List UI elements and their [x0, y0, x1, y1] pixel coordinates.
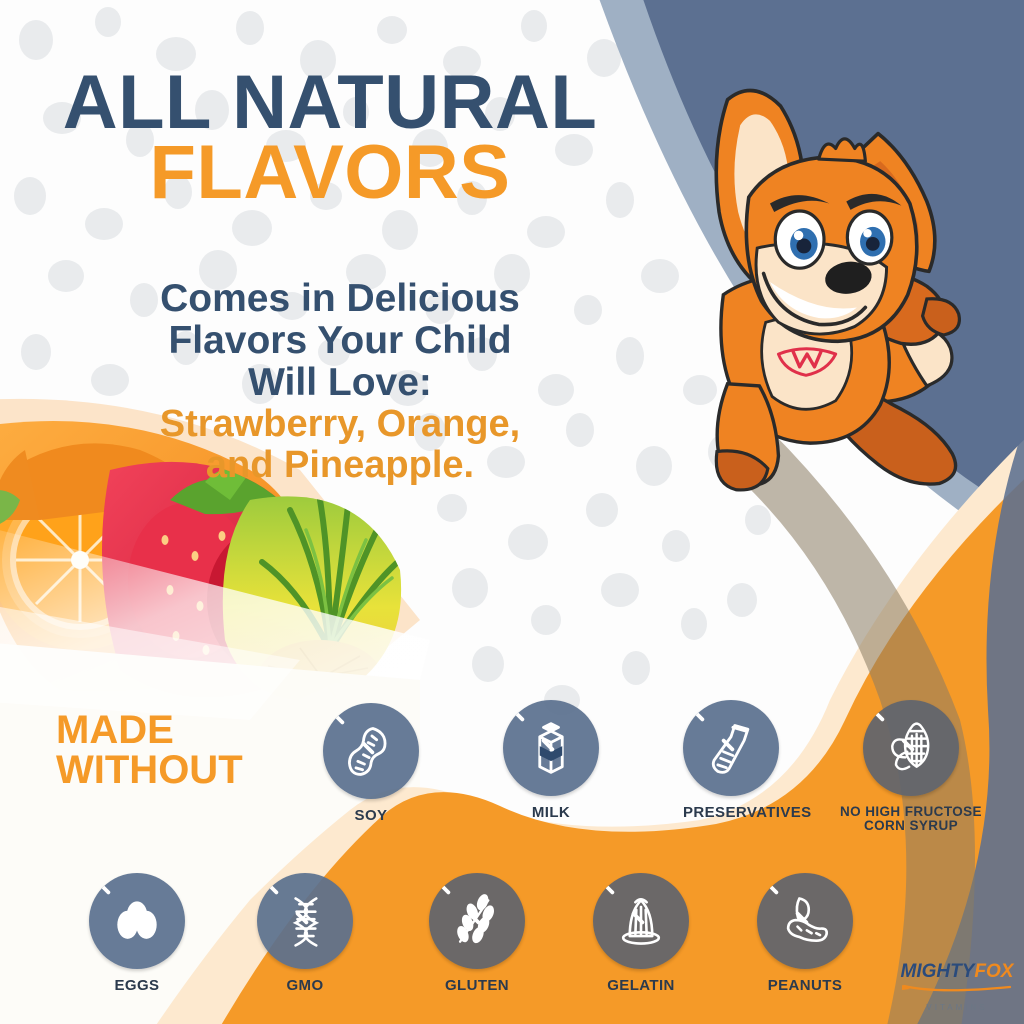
headline-line-1: ALL NATURAL	[0, 68, 660, 138]
badge-label: GELATIN	[593, 978, 689, 994]
badge-label: SOY	[323, 808, 419, 824]
strikethrough-icon	[323, 703, 383, 763]
strikethrough-icon	[257, 873, 317, 933]
strikethrough-icon	[593, 873, 653, 933]
badge-preservatives[interactable]: PRESERVATIVES	[683, 700, 779, 821]
badge-circle	[593, 873, 689, 969]
headline-line-2: FLAVORS	[0, 138, 660, 208]
badge-label: NO HIGH FRUCTOSE CORN SYRUP	[831, 805, 991, 833]
brand-logo[interactable]: MIGHTYFOX VITAMINS	[896, 962, 1018, 1012]
logo-mighty-text: MIGHTY	[901, 961, 975, 982]
logo-wordmark: MIGHTYFOX	[896, 962, 1018, 981]
logo-tagline: VITAMINS	[896, 1003, 1018, 1012]
strikethrough-icon	[89, 873, 149, 933]
badge-gelatin[interactable]: GELATIN	[593, 873, 689, 994]
strikethrough-icon	[503, 700, 563, 760]
badge-peanuts[interactable]: PEANUTS	[757, 873, 853, 994]
badge-label: GMO	[257, 978, 353, 994]
badge-circle	[257, 873, 353, 969]
badge-circle	[683, 700, 779, 796]
badge-circle	[503, 700, 599, 796]
made-without-line-2: WITHOUT	[56, 750, 306, 790]
badge-circle	[863, 700, 959, 796]
made-without-line-1: MADE	[56, 710, 306, 750]
subhead-line-2: Flavors Your Child	[80, 320, 600, 362]
badge-circle	[323, 703, 419, 799]
logo-swoosh-icon	[898, 984, 1016, 994]
badge-soy[interactable]: SOY	[323, 703, 419, 824]
badge-label: PEANUTS	[757, 978, 853, 994]
badge-label: EGGS	[89, 978, 185, 994]
badge-corn-syrup[interactable]: NO HIGH FRUCTOSE CORN SYRUP	[863, 700, 959, 833]
badge-gluten[interactable]: GLUTEN	[429, 873, 525, 994]
badge-gmo[interactable]: GMO	[257, 873, 353, 994]
badge-eggs[interactable]: EGGS	[89, 873, 185, 994]
logo-fox-text: FOX	[974, 961, 1013, 982]
strikethrough-icon	[683, 700, 743, 760]
subhead-line-1: Comes in Delicious	[80, 278, 600, 320]
subhead: Comes in Delicious Flavors Your Child Wi…	[80, 278, 600, 486]
poster-canvas: ALL NATURAL FLAVORS Comes in Delicious F…	[0, 0, 1024, 1024]
badge-circle	[757, 873, 853, 969]
strikethrough-icon	[863, 700, 923, 760]
made-without-heading: MADE WITHOUT	[56, 710, 306, 790]
flavors-line-1: Strawberry, Orange,	[80, 404, 600, 445]
headline: ALL NATURAL FLAVORS	[0, 68, 660, 208]
flavors-line-2: and Pineapple.	[80, 445, 600, 486]
strikethrough-icon	[757, 873, 817, 933]
badge-milk[interactable]: MILK	[503, 700, 599, 821]
strikethrough-icon	[429, 873, 489, 933]
badge-circle	[89, 873, 185, 969]
badge-label: PRESERVATIVES	[683, 805, 779, 821]
badge-label: GLUTEN	[429, 978, 525, 994]
subhead-line-3: Will Love:	[80, 362, 600, 404]
badge-label: MILK	[503, 805, 599, 821]
badge-circle	[429, 873, 525, 969]
